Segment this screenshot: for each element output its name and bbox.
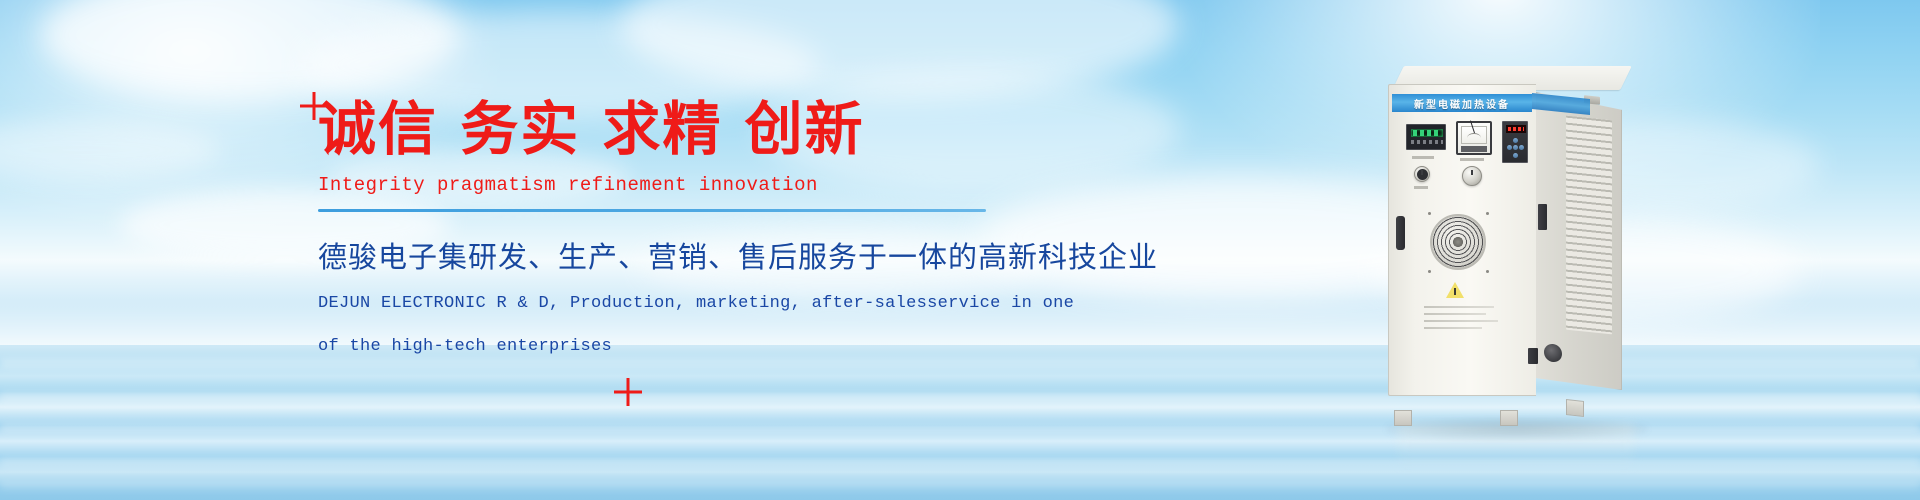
door-latch (1538, 204, 1547, 230)
machine-foot (1566, 399, 1584, 417)
keypad-buttons (1507, 138, 1525, 160)
cloud (620, 0, 1180, 100)
fan-screw (1428, 212, 1431, 215)
meter-scale (1467, 133, 1481, 138)
subtitle-english-line-1: DEJUN ELECTRONIC R & D, Production, mark… (318, 288, 1038, 319)
front-grip-handle (1396, 216, 1405, 250)
fan-screw (1428, 270, 1431, 273)
meter-label-strip (1461, 146, 1487, 152)
machine-banner-label: 新型电磁加热设备 (1392, 94, 1532, 112)
water-highlight (0, 482, 1920, 488)
fan-screw (1486, 212, 1489, 215)
keypad-key-up (1513, 138, 1518, 143)
led-display-icon (1411, 129, 1443, 137)
controller-buttons-row (1411, 140, 1443, 144)
meter-face (1461, 126, 1487, 144)
panel-text-label (1460, 158, 1484, 161)
subtitle-chinese: 德骏电子集研发、生产、营销、售后服务于一体的高新科技企业 (318, 234, 1038, 276)
red-led-display-icon (1506, 125, 1526, 133)
keypad-key-enter (1513, 145, 1518, 150)
water-highlight (0, 458, 1920, 467)
machine-foot (1394, 410, 1412, 426)
keypad-key-left (1507, 145, 1512, 150)
rotary-knob (1462, 166, 1482, 186)
headline-chinese: 诚信 务实 求精 创新 (318, 100, 1038, 158)
meter-needle (1470, 120, 1475, 133)
banner-text-block: 诚信 务实 求精 创新 Integrity pragmatism refinem… (318, 100, 1038, 363)
power-cable-port (1528, 348, 1538, 364)
headline-english: Integrity pragmatism refinement innovati… (318, 174, 1038, 196)
divider-line (318, 209, 986, 212)
analog-ammeter (1456, 121, 1492, 155)
product-image-heating-machine: 新型电磁加热设备 (1388, 66, 1646, 426)
led-keypad-controller (1502, 121, 1528, 163)
cooling-fan-grille-icon (1430, 214, 1486, 270)
warning-triangle-icon (1446, 282, 1464, 298)
panel-text-label (1414, 186, 1428, 189)
ventilation-louvers-icon (1566, 116, 1612, 335)
fan-screw (1486, 270, 1489, 273)
machine-foot (1500, 410, 1518, 426)
cloud (0, 120, 220, 180)
plus-decoration-icon (614, 378, 642, 406)
digital-temperature-controller (1406, 124, 1446, 150)
promotional-banner: 诚信 务实 求精 创新 Integrity pragmatism refinem… (0, 0, 1920, 500)
selector-knob (1414, 166, 1430, 182)
cloud (40, 0, 460, 100)
keypad-key-down (1513, 153, 1518, 158)
product-reflection (1398, 424, 1634, 470)
keypad-key-right (1519, 145, 1524, 150)
subtitle-english-line-2: of the high-tech enterprises (318, 331, 1038, 362)
specification-label (1424, 306, 1502, 334)
panel-text-label (1412, 156, 1434, 159)
